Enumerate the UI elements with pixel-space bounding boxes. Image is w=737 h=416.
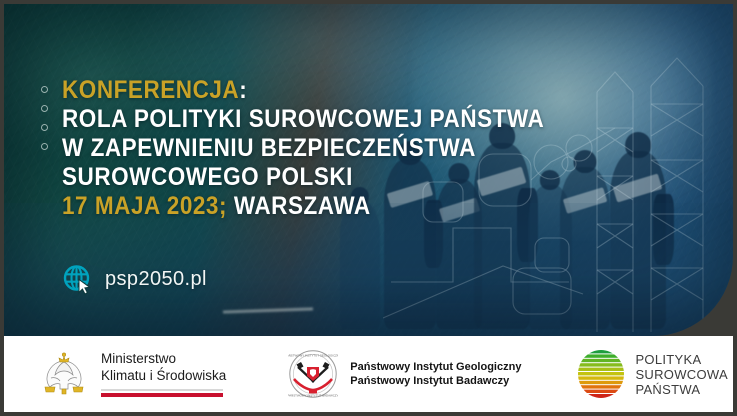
ministry-rule-gray: [101, 389, 223, 391]
ministry-line-1: Ministerstwo: [101, 351, 226, 368]
pgi-text-block: Państwowy Instytut Geologiczny Państwowy…: [350, 360, 521, 389]
pgi-line-2: Państwowy Instytut Badawczy: [350, 374, 521, 389]
website-url-label: psp2050.pl: [105, 268, 207, 291]
bullet-ring-icon: [41, 86, 48, 93]
psp-line-3: PAŃSTWA: [635, 382, 728, 397]
event-date: 17 MAJA 2023: [62, 192, 219, 220]
kicker-punctuation: :: [239, 76, 247, 104]
striped-oval-gradient-icon: [577, 349, 625, 399]
logo-ministry-of-climate[interactable]: Ministerstwo Klimatu i Środowiska: [38, 348, 226, 400]
conference-banner: KONFERENCJA: ROLA POLITYKI SUROWCOWEJ PA…: [0, 0, 737, 416]
website-link[interactable]: psp2050.pl: [62, 263, 207, 295]
bullet-ring-icon: [41, 124, 48, 131]
title-line-1: ROLA POLITYKI SUROWCOWEJ PAŃSTWA: [62, 105, 602, 134]
date-city-line: 17 MAJA 2023; WARSZAWA: [62, 192, 602, 221]
logo-polish-geological-institute[interactable]: PAŃSTWOWY INSTYTUT GEOLOGICZNY PAŃSTWOWY…: [288, 349, 521, 399]
decorative-ring-bullets: [41, 86, 48, 150]
logo-polityka-surowcowa-panstwa[interactable]: POLITYKA SUROWCOWA PAŃSTWA: [577, 349, 728, 399]
title-line-3: SUROWCOWEGO POLSKI: [62, 163, 602, 192]
psp-line-2: SUROWCOWA: [635, 367, 728, 382]
event-city: [227, 192, 234, 220]
kicker-label: KONFERENCJA: [62, 76, 239, 104]
bullet-ring-icon: [41, 143, 48, 150]
svg-text:PAŃSTWOWY INSTYTUT GEOLOGICZNY: PAŃSTWOWY INSTYTUT GEOLOGICZNY: [288, 353, 338, 357]
title-line-2: W ZAPEWNIENIU BEZPIECZEŃSTWA: [62, 134, 602, 163]
banner-text-block: KONFERENCJA: ROLA POLITYKI SUROWCOWEJ PA…: [62, 76, 662, 221]
ministry-line-2: Klimatu i Środowiska: [101, 368, 226, 385]
polish-eagle-emblem-icon: [38, 348, 90, 400]
psp-line-1: POLITYKA: [635, 352, 728, 367]
sponsor-logo-bar: Ministerstwo Klimatu i Środowiska PAŃSTW…: [4, 336, 733, 412]
psp-text-block: POLITYKA SUROWCOWA PAŃSTWA: [635, 352, 728, 397]
bullet-ring-icon: [41, 105, 48, 112]
event-city-label: WARSZAWA: [234, 192, 371, 220]
globe-cursor-icon: [62, 263, 94, 295]
pgi-line-1: Państwowy Instytut Geologiczny: [350, 360, 521, 375]
kicker-line: KONFERENCJA:: [62, 76, 602, 105]
pgi-circular-seal-icon: PAŃSTWOWY INSTYTUT GEOLOGICZNY PAŃSTWOWY…: [288, 349, 338, 399]
svg-text:PAŃSTWOWY INSTYTUT BADAWCZY: PAŃSTWOWY INSTYTUT BADAWCZY: [288, 393, 338, 397]
ministry-rule-red: [101, 393, 223, 397]
ministry-text-block: Ministerstwo Klimatu i Środowiska: [101, 351, 226, 397]
